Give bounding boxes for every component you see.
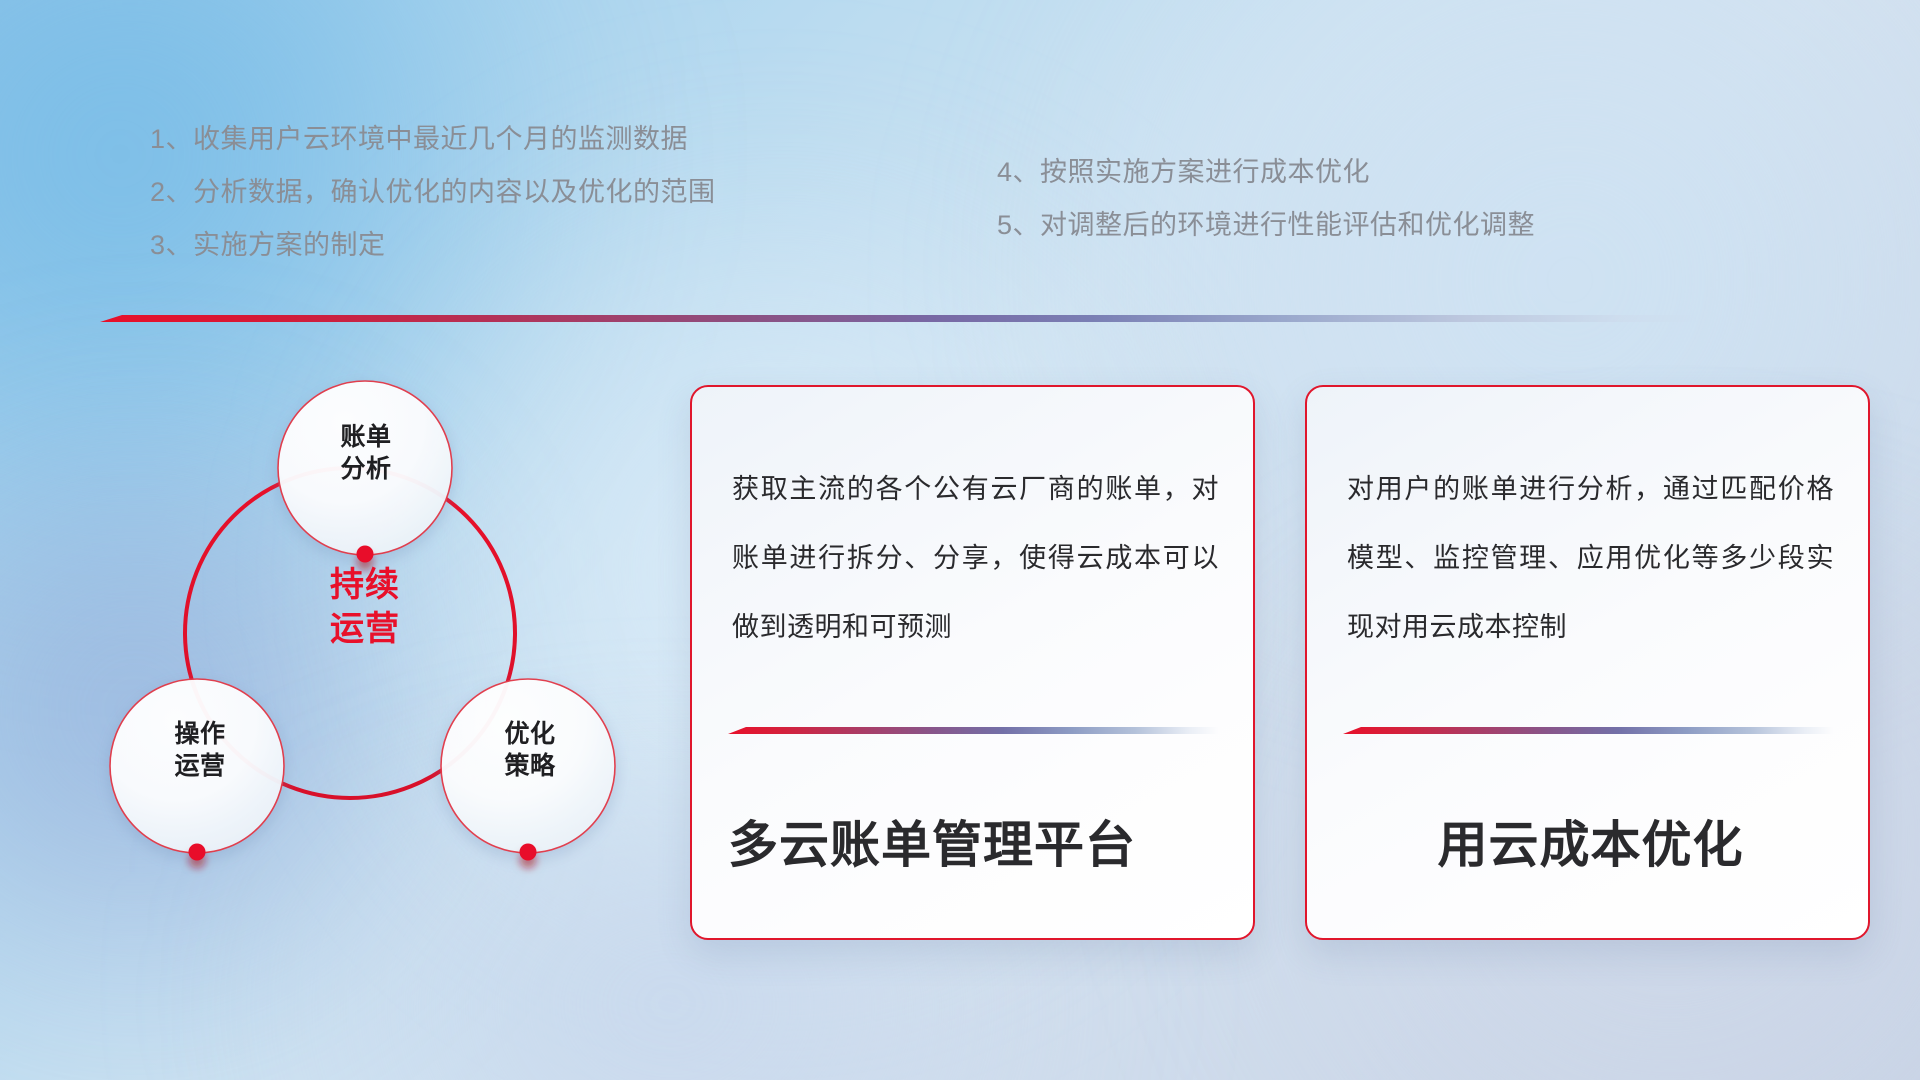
slide-canvas: 1、收集用户云环境中最近几个月的监测数据 2、分析数据，确认优化的内容以及优化的… (0, 0, 1920, 1080)
card-divider (1343, 725, 1834, 735)
bullet-list-left: 1、收集用户云环境中最近几个月的监测数据 2、分析数据，确认优化的内容以及优化的… (150, 126, 716, 259)
card-title: 用云成本优化 (1343, 805, 1838, 877)
card-multi-cloud-bill-platform[interactable]: 获取主流的各个公有云厂商的账单，对账单进行拆分、分享，使得云成本可以做到透明和可… (690, 385, 1255, 940)
bullet-list-right: 4、按照实施方案进行成本优化 5、对调整后的环境进行性能评估和优化调整 (997, 159, 1535, 239)
card-divider-gradient-bar (1343, 727, 1834, 734)
venn-label-ops-operation: 操作 运营 (115, 718, 285, 782)
venn-label-optimization-strategy: 优化 策略 (445, 718, 615, 782)
connector-node-top (357, 546, 374, 563)
connector-node-left (189, 844, 206, 861)
connector-node-right (520, 844, 537, 861)
continuous-operation-diagram: 账单 分析 操作 运营 优化 策略 持续 运营 (85, 348, 645, 908)
card-divider-gradient-bar (728, 727, 1219, 734)
card-divider (728, 725, 1219, 735)
bullet-item: 3、实施方案的制定 (150, 232, 716, 259)
card-body-text: 对用户的账单进行分析，通过匹配价格模型、监控管理、应用优化等多少段实现对用云成本… (1347, 455, 1834, 662)
card-body-text: 获取主流的各个公有云厂商的账单，对账单进行拆分、分享，使得云成本可以做到透明和可… (732, 455, 1219, 662)
divider-gradient-bar (100, 315, 1700, 322)
venn-center-label: 持续 运营 (265, 563, 465, 651)
venn-label-bill-analysis: 账单 分析 (281, 421, 451, 485)
bullet-item: 4、按照实施方案进行成本优化 (997, 159, 1535, 186)
card-title: 多云账单管理平台 (728, 805, 1223, 877)
bullet-item: 5、对调整后的环境进行性能评估和优化调整 (997, 212, 1535, 239)
bullet-item: 2、分析数据，确认优化的内容以及优化的范围 (150, 179, 716, 206)
section-divider (100, 312, 1700, 326)
card-cloud-cost-optimization[interactable]: 对用户的账单进行分析，通过匹配价格模型、监控管理、应用优化等多少段实现对用云成本… (1305, 385, 1870, 940)
bullet-item: 1、收集用户云环境中最近几个月的监测数据 (150, 126, 716, 153)
